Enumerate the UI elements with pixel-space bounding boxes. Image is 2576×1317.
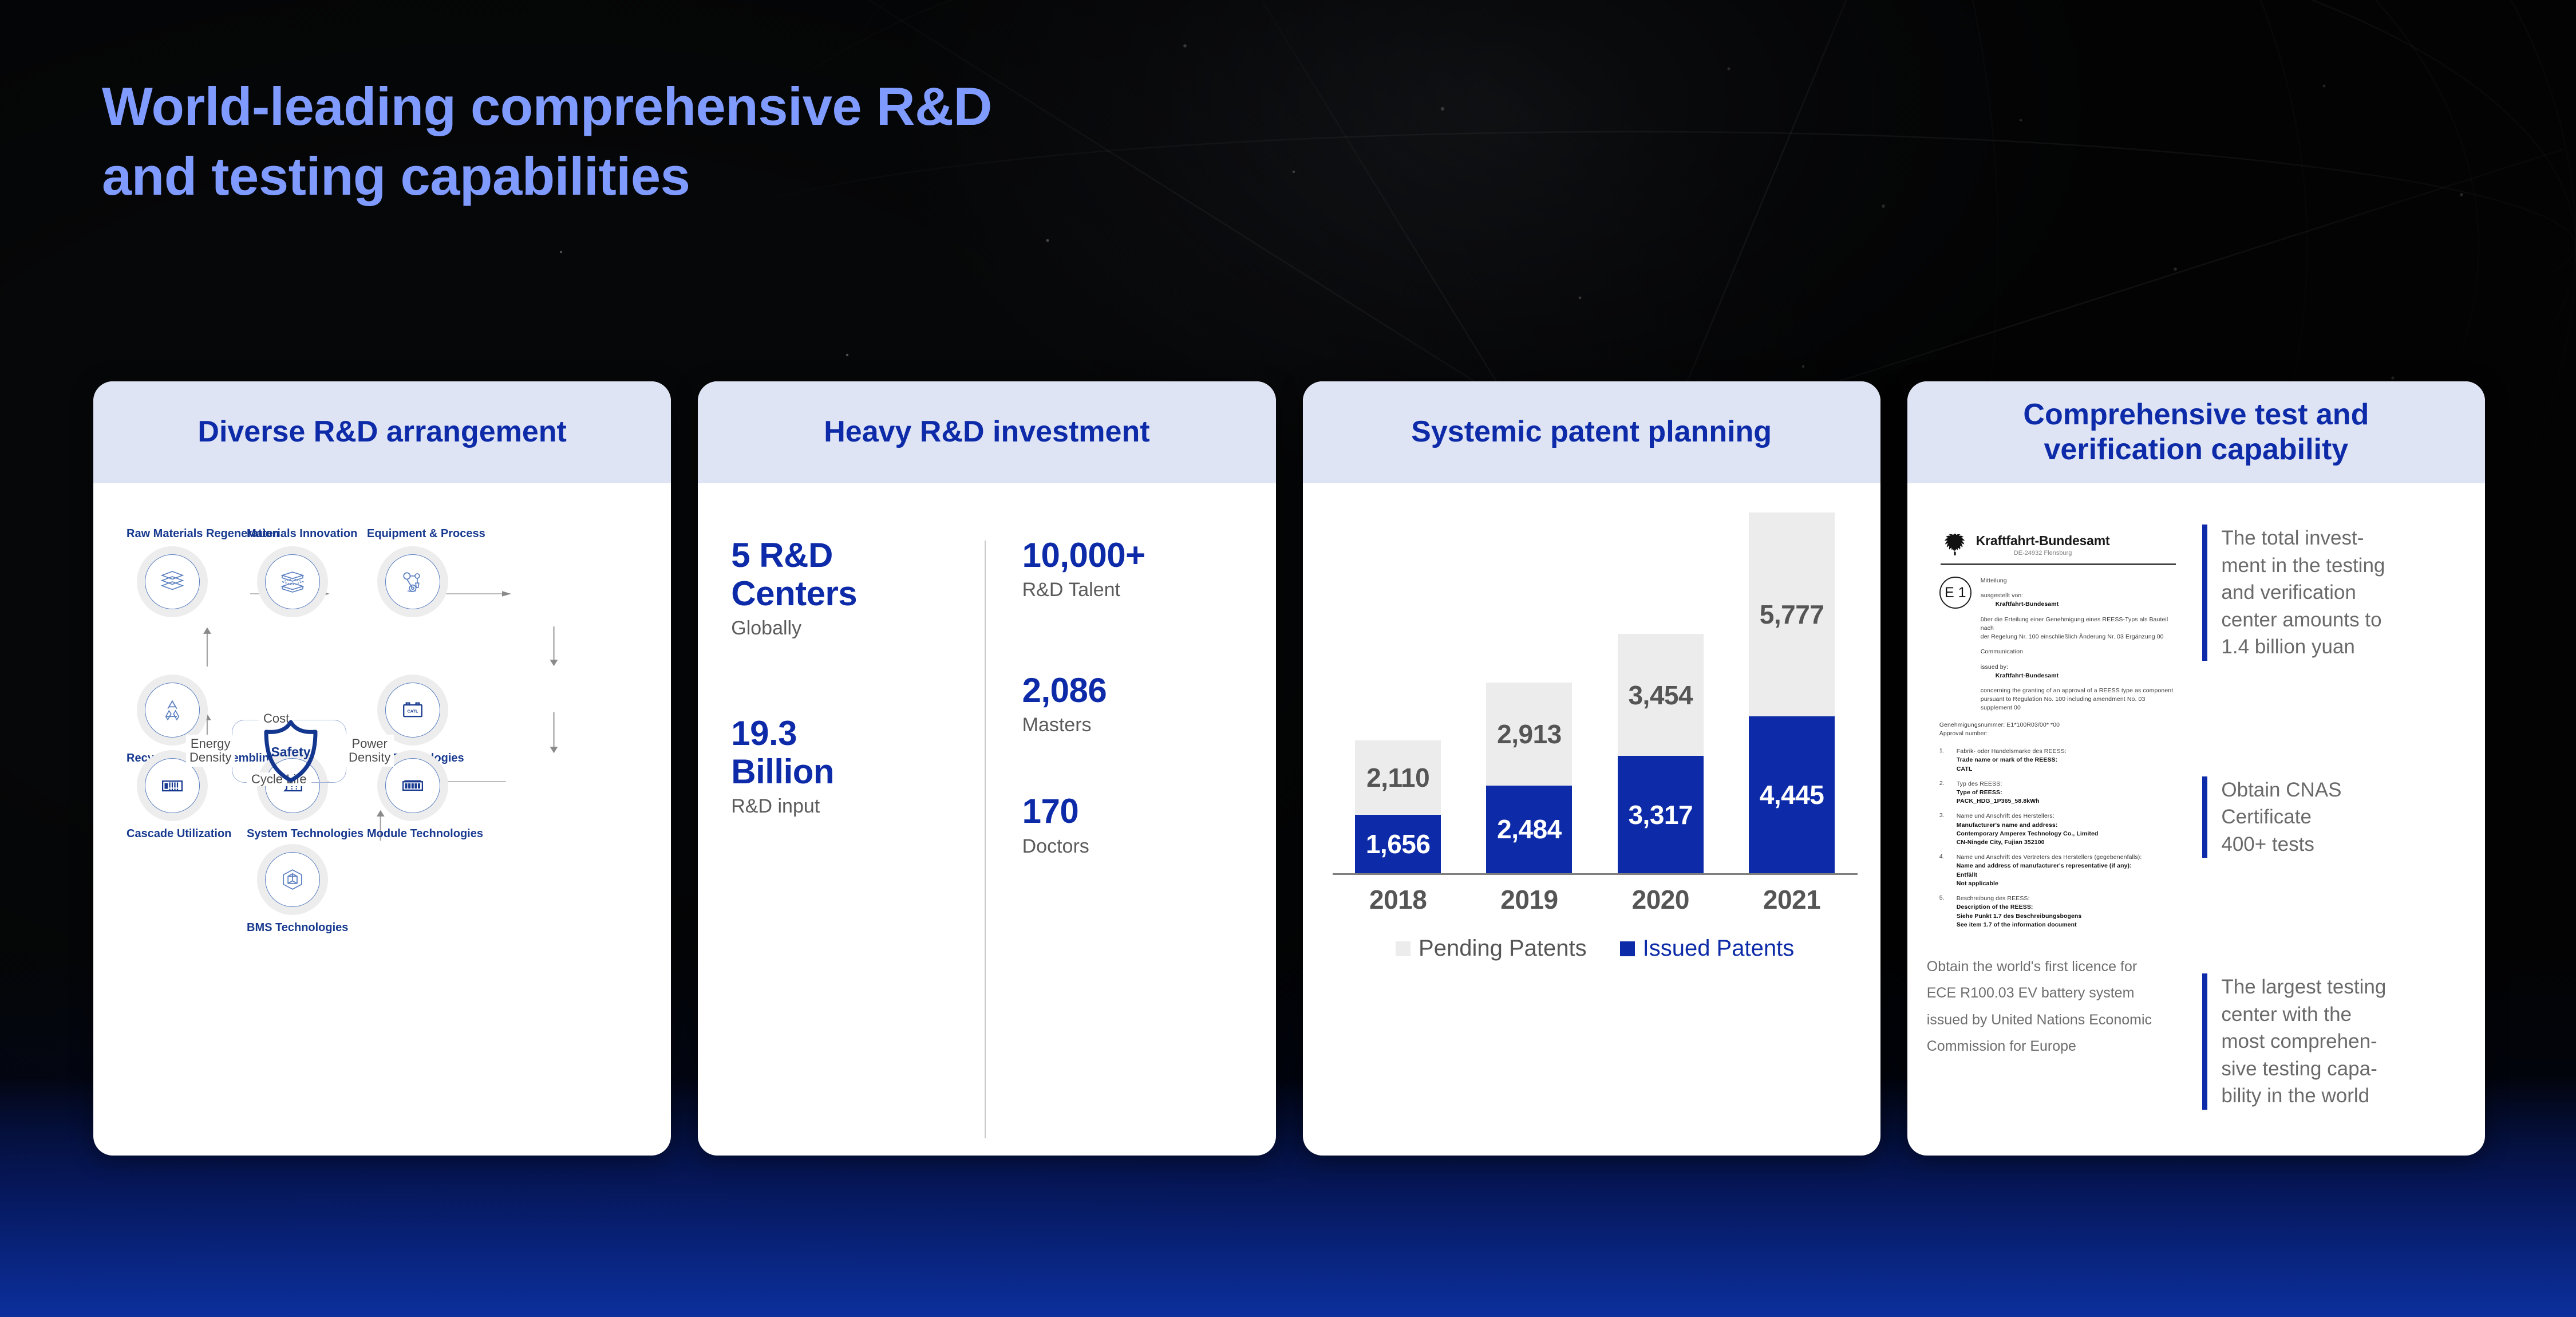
cert-line-en-2: pursuant to Regulation No. 100 including… xyxy=(1981,695,2178,712)
bar-group-2018: 2,1101,656 xyxy=(1355,740,1441,873)
diagram-node-bms-technologies: BMS Technologies xyxy=(247,844,338,934)
x-tick-2019: 2019 xyxy=(1486,884,1572,915)
stat-value: 5 R&D Centers xyxy=(731,536,985,613)
center-label-power-density: Power Density xyxy=(345,735,394,767)
node-icon-ring xyxy=(137,546,208,617)
certificate-item-de: Typ des REESS: xyxy=(1957,780,2040,788)
certificate-item-body: Name und Anschrift des Herstellers:Manuf… xyxy=(1957,812,2099,847)
stat-value: 10,000+ xyxy=(1022,536,1276,574)
card-body: Raw Materials Regeneration Materials Inn… xyxy=(93,483,671,1156)
cert-approval-number-de: Genehmigungsnummer: E1*100R03/00* *00 xyxy=(1939,721,2178,730)
certificate-item-body: Typ des REESS:Type of REESS:PACK_HDG_1P3… xyxy=(1957,780,2040,806)
certificate-item-body: Name und Anschrift des Vertreters des He… xyxy=(1957,853,2142,888)
battery-cell-catl-icon: CATL xyxy=(397,695,428,725)
bar-value-pending: 3,454 xyxy=(1628,680,1693,711)
chart-bars: 2,1101,6562,9132,4843,4543,3175,7774,445 xyxy=(1333,508,1858,873)
node-label: Module Technologies xyxy=(367,827,459,841)
card-systemic-patent-planning: Systemic patent planning 2,1101,6562,913… xyxy=(1303,381,1880,1156)
node-icon-ring xyxy=(377,546,448,617)
certificate-org-address: DE-24932 Flensburg xyxy=(1976,550,2110,557)
cert-line-issuer-en: Kraftfahrt-Bundesamt xyxy=(1981,672,2178,680)
card-body: 2,1101,6562,9132,4843,4543,3175,7774,445… xyxy=(1303,483,1880,1156)
certificate-item-value: Entfällt Not applicable xyxy=(1957,871,2142,888)
bar-value-pending: 2,913 xyxy=(1497,719,1562,750)
bar-value-issued: 3,317 xyxy=(1628,799,1693,830)
stat-rd-input: 19.3 Billion R&D input xyxy=(731,714,985,819)
bullet-accent-bar xyxy=(2202,525,2207,661)
layered-material-icon xyxy=(277,566,308,597)
stat-label: R&D Talent xyxy=(1022,578,1276,602)
certificate-item-de: Fabrik- oder Handelsmarke des REESS: xyxy=(1957,747,2067,756)
node-icon-ring xyxy=(257,546,328,617)
certificate-item-en: Trade name or mark of the REESS: xyxy=(1957,756,2067,764)
card-title: Systemic patent planning xyxy=(1411,415,1772,449)
bullet-largest-testing-center: The largest testing center with the most… xyxy=(2202,973,2466,1110)
chart-x-axis-line xyxy=(1333,873,1858,875)
bar-segment-pending: 5,777 xyxy=(1749,512,1835,716)
investment-stats: 5 R&D Centers Globally 19.3 Billion R&D … xyxy=(698,483,1275,1156)
cert-line-communication: Communication xyxy=(1981,648,2178,656)
bullet-cnas-certificate: Obtain CNAS Certificate 400+ tests xyxy=(2202,776,2466,858)
cert-line-issuer-de: Kraftfahrt-Bundesamt xyxy=(1981,600,2178,609)
certificate-items-list: 1.Fabrik- oder Handelsmarke des REESS:Tr… xyxy=(1939,747,2178,929)
card-header: Comprehensive test and verification capa… xyxy=(1907,381,2485,483)
certificate-divider xyxy=(1941,563,2176,565)
kba-certificate-document: Kraftfahrt-Bundesamt DE-24932 Flensburg … xyxy=(1927,505,2190,934)
card-body: 5 R&D Centers Globally 19.3 Billion R&D … xyxy=(698,483,1275,1156)
cascade-rack-icon xyxy=(157,770,188,801)
node-label: System Technologies xyxy=(247,827,338,841)
certificate-item-de: Name und Anschrift des Herstellers: xyxy=(1957,812,2099,821)
legend-item-pending-patents: Pending Patents xyxy=(1396,936,1587,961)
stat-masters: 2,086 Masters xyxy=(1022,671,1276,738)
bar-group-2019: 2,9132,484 xyxy=(1486,683,1572,873)
bar-segment-issued: 3,317 xyxy=(1618,756,1704,873)
bar-segment-pending: 2,913 xyxy=(1486,683,1572,786)
spacer xyxy=(731,641,985,714)
certificate-item-number: 4. xyxy=(1939,853,1947,888)
svg-text:CATL: CATL xyxy=(408,709,418,714)
stat-value: 170 xyxy=(1022,792,1276,830)
certificate-item-number: 2. xyxy=(1939,780,1947,806)
bar-segment-issued: 2,484 xyxy=(1486,786,1572,873)
stat-value: 2,086 xyxy=(1022,671,1276,709)
node-label: Materials Innovation xyxy=(247,527,338,541)
bar-group-2020: 3,4543,317 xyxy=(1618,634,1704,873)
robot-arm-icon xyxy=(397,566,428,597)
bullet-total-investment: The total invest- ment in the testing an… xyxy=(2202,525,2466,661)
spacer xyxy=(1022,737,1276,792)
bar-segment-issued: 1,656 xyxy=(1355,815,1441,873)
bms-cube-icon xyxy=(277,864,308,895)
bullet-accent-bar xyxy=(2202,776,2207,858)
node-label: Equipment & Process xyxy=(367,527,459,541)
node-label: Raw Materials Regeneration xyxy=(127,527,218,541)
card-body: Kraftfahrt-Bundesamt DE-24932 Flensburg … xyxy=(1907,483,2485,1156)
card-heavy-rd-investment: Heavy R&D investment 5 R&D Centers Globa… xyxy=(698,381,1275,1156)
certificate-item-en: Manufacturer's name and address: xyxy=(1957,821,2099,830)
certificate-body: Mitteilung ausgestellt von: Kraftfahrt-B… xyxy=(1981,577,2178,713)
cert-line-de-2: der Regelung Nr. 100 einschließlich Ände… xyxy=(1981,633,2178,641)
stat-value: 19.3 Billion xyxy=(731,714,985,791)
certificate-caption: Obtain the world's first licence for ECE… xyxy=(1927,953,2190,1059)
rd-cycle-diagram: Raw Materials Regeneration Materials Inn… xyxy=(93,483,671,1156)
bar-group-2021: 5,7774,445 xyxy=(1749,512,1835,873)
spacer xyxy=(1022,602,1276,671)
stat-label: Masters xyxy=(1022,713,1276,738)
stats-column-left: 5 R&D Centers Globally 19.3 Billion R&D … xyxy=(698,536,985,1156)
diagram-node-equipment-process: Equipment & Process xyxy=(367,527,459,617)
cards-row: Diverse R&D arrangement xyxy=(93,381,2485,1156)
cert-line-mitteilung: Mitteilung xyxy=(1981,577,2178,585)
diagram-node-raw-materials-regeneration: Raw Materials Regeneration xyxy=(127,527,218,617)
certificate-item-number: 3. xyxy=(1939,812,1947,847)
bullet-text: The total invest- ment in the testing an… xyxy=(2221,525,2385,661)
certificate-item-5: 5.Beschreibung des REESS:Description of … xyxy=(1939,894,2178,929)
certificate-main: E 1 Mitteilung ausgestellt von: Kraftfah… xyxy=(1939,577,2178,713)
bar-value-issued: 2,484 xyxy=(1497,814,1562,845)
x-tick-2018: 2018 xyxy=(1355,884,1441,915)
stat-doctors: 170 Doctors xyxy=(1022,792,1276,858)
bullet-accent-bar xyxy=(2202,973,2207,1110)
certificate-item-value: Siehe Punkt 1.7 des Beschreibungsbogens … xyxy=(1957,912,2082,929)
certificate-item-body: Fabrik- oder Handelsmarke des REESS:Trad… xyxy=(1957,747,2067,774)
bullet-text: The largest testing center with the most… xyxy=(2221,973,2386,1110)
cert-line-issued-by-en: issued by: xyxy=(1981,663,2178,672)
certificate-item-value: CATL xyxy=(1957,765,2067,774)
test-verification-content: Kraftfahrt-Bundesamt DE-24932 Flensburg … xyxy=(1907,483,2485,1156)
bar-segment-pending: 2,110 xyxy=(1355,740,1441,815)
card-title: Heavy R&D investment xyxy=(824,415,1149,449)
safety-shield: Safety xyxy=(261,717,321,785)
stat-label: Globally xyxy=(731,616,985,641)
card-diverse-rd-arrangement: Diverse R&D arrangement xyxy=(93,381,671,1156)
page-title: World-leading comprehensive R&D and test… xyxy=(102,72,1304,211)
node-label: BMS Technologies xyxy=(247,921,338,934)
certificate-column: Kraftfahrt-Bundesamt DE-24932 Flensburg … xyxy=(1927,505,2190,1142)
certificate-item-number: 5. xyxy=(1939,894,1947,929)
chart-x-axis-labels: 2018201920202021 xyxy=(1333,884,1858,915)
cert-line-de-1: über die Erteilung einer Genehmigung ein… xyxy=(1981,616,2178,633)
card-header: Heavy R&D investment xyxy=(698,381,1275,483)
bar-segment-issued: 4,445 xyxy=(1749,716,1835,873)
certificate-approval-block: Genehmigungsnummer: E1*100R03/00* *00 Ap… xyxy=(1939,721,2178,738)
x-tick-2021: 2021 xyxy=(1749,884,1835,915)
battery-module-icon xyxy=(397,770,428,801)
certificate-item-number: 1. xyxy=(1939,747,1947,774)
slide-canvas: World-leading comprehensive R&D and test… xyxy=(0,0,2576,1317)
certificate-item-en: Description of the REESS: xyxy=(1957,903,2082,912)
card-header: Systemic patent planning xyxy=(1303,381,1880,483)
german-eagle-icon xyxy=(1943,531,1967,558)
certificate-item-de: Name und Anschrift des Vertreters des He… xyxy=(1957,853,2142,862)
legend-item-issued-patents: Issued Patents xyxy=(1620,936,1795,961)
certificate-item-4: 4.Name und Anschrift des Vertreters des … xyxy=(1939,853,2178,888)
certificate-org-name: Kraftfahrt-Bundesamt xyxy=(1976,533,2110,549)
cert-line-issued-by-de: ausgestellt von: xyxy=(1981,592,2178,600)
bar-value-issued: 1,656 xyxy=(1366,829,1431,859)
bullets-column: The total invest- ment in the testing an… xyxy=(2202,505,2466,1142)
certificate-item-2: 2.Typ des REESS:Type of REESS:PACK_HDG_1… xyxy=(1939,780,2178,806)
patent-stacked-bar-chart: 2,1101,6562,9132,4843,4543,3175,7774,445… xyxy=(1303,483,1880,1156)
x-tick-2020: 2020 xyxy=(1618,884,1704,915)
chart-plot-area: 2,1101,6562,9132,4843,4543,3175,7774,445 xyxy=(1333,508,1858,875)
card-title: Diverse R&D arrangement xyxy=(197,415,566,449)
certificate-item-de: Beschreibung des REESS: xyxy=(1957,894,2082,903)
certificate-item-en: Type of REESS: xyxy=(1957,788,2040,797)
cert-line-en-1: concerning the granting of an approval o… xyxy=(1981,687,2178,695)
card-header: Diverse R&D arrangement xyxy=(93,381,671,483)
chart-legend: Pending Patents Issued Patents xyxy=(1333,936,1858,961)
certificate-item-body: Beschreibung des REESS:Description of th… xyxy=(1957,894,2082,929)
bar-value-pending: 5,777 xyxy=(1760,599,1824,630)
stat-rd-centers: 5 R&D Centers Globally xyxy=(731,536,985,641)
bar-value-issued: 4,445 xyxy=(1760,779,1824,810)
stat-label: Doctors xyxy=(1022,834,1276,859)
recycle-icon xyxy=(157,695,188,725)
cert-approval-number-en: Approval number: xyxy=(1939,730,2178,738)
diagram-node-materials-innovation: Materials Innovation xyxy=(247,527,338,617)
legend-swatch-issued xyxy=(1620,941,1635,956)
certificate-item-3: 3.Name und Anschrift des Herstellers:Man… xyxy=(1939,812,2178,847)
bar-segment-pending: 3,454 xyxy=(1618,634,1704,756)
bar-value-pending: 2,110 xyxy=(1366,762,1429,793)
stat-rd-talent: 10,000+ R&D Talent xyxy=(1022,536,1276,602)
legend-swatch-pending xyxy=(1396,941,1411,956)
card-title: Comprehensive test and verification capa… xyxy=(2023,397,2369,468)
stats-column-right: 10,000+ R&D Talent 2,086 Masters 170 Doc… xyxy=(986,536,1276,1156)
certificate-item-1: 1.Fabrik- oder Handelsmarke des REESS:Tr… xyxy=(1939,747,2178,774)
node-icon-ring xyxy=(257,844,328,915)
stacked-layers-icon xyxy=(157,566,188,597)
shield-label: Safety xyxy=(271,744,310,760)
bullet-text: Obtain CNAS Certificate 400+ tests xyxy=(2221,776,2341,858)
center-label-energy-density: Energy Density xyxy=(186,735,235,767)
legend-label: Pending Patents xyxy=(1419,936,1587,961)
e1-approval-mark: E 1 xyxy=(1939,577,1971,609)
certificate-item-value: Contemporary Amperex Technology Co., Lim… xyxy=(1957,830,2099,847)
node-label: Cascade Utilization xyxy=(127,827,218,841)
stat-label: R&D input xyxy=(731,794,985,819)
certificate-item-en: Name and address of manufacturer's repre… xyxy=(1957,862,2142,870)
card-comprehensive-test-verification: Comprehensive test and verification capa… xyxy=(1907,381,2485,1156)
legend-label: Issued Patents xyxy=(1643,936,1795,961)
certificate-header: Kraftfahrt-Bundesamt DE-24932 Flensburg xyxy=(1939,531,2178,558)
certificate-item-value: PACK_HDG_1P365_58.8kWh xyxy=(1957,797,2040,806)
